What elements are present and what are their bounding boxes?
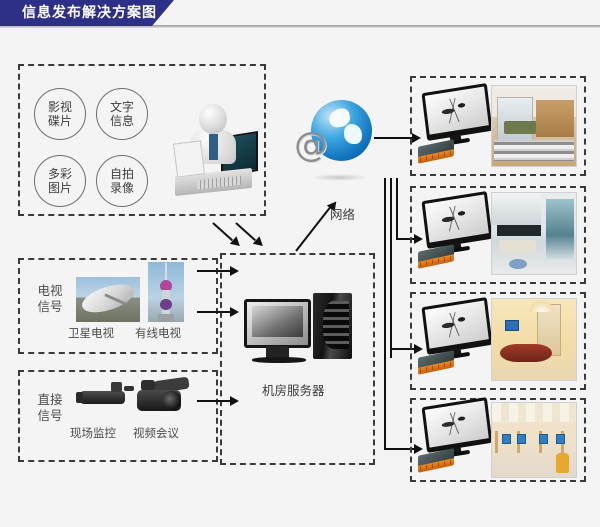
- arrow-head: [230, 307, 239, 317]
- server-vents-icon: [323, 301, 349, 349]
- arrow-server-to-network: [295, 206, 331, 251]
- direct-signal-label: 直接 信号: [30, 392, 70, 424]
- circle-line2: 录像: [110, 181, 134, 195]
- server-monitor-icon: [244, 299, 311, 347]
- network-label: 网络: [330, 207, 355, 223]
- satellite-tv-caption: 卫星电视: [68, 325, 114, 341]
- circle-line2: 碟片: [48, 114, 72, 128]
- yellow-dining-room-photo: [491, 298, 577, 381]
- arrow-content-to-server-1: [212, 222, 233, 241]
- server-label: 机房服务器: [262, 383, 325, 399]
- source-circle-self-record[interactable]: 自拍 录像: [96, 155, 148, 207]
- circle-line1: 自拍: [110, 167, 134, 181]
- tv-signal-label: 电视 信号: [30, 283, 70, 315]
- modern-living-room-photo: [491, 192, 577, 275]
- desktop-server-icon: [244, 293, 352, 371]
- person-laptop-icon: [168, 98, 260, 198]
- source-circle-video-disc[interactable]: 影视 碟片: [34, 88, 86, 140]
- bus-line-2: [390, 178, 392, 358]
- page-title: 信息发布解决方案图: [22, 3, 157, 23]
- arrow-tv-to-server: [197, 311, 231, 313]
- set-top-box-icon: [418, 248, 454, 270]
- person-head-icon: [199, 104, 227, 134]
- circle-line2: 信息: [110, 114, 134, 128]
- camcorder-icon: [135, 374, 197, 420]
- circle-line2: 图片: [48, 181, 72, 195]
- arrow-direct-to-server: [197, 400, 231, 402]
- arrow-to-server-top: [197, 270, 231, 272]
- circle-line1: 多彩: [48, 167, 72, 181]
- cable-tv-caption: 有线电视: [135, 325, 181, 341]
- set-top-box-icon: [418, 143, 454, 165]
- kitchen-dining-room-photo: [491, 85, 577, 167]
- tv-tower-icon: [148, 262, 184, 322]
- arrow-head: [230, 266, 239, 276]
- office-computer-room-photo: [491, 402, 577, 478]
- satellite-dish-icon: [76, 277, 140, 322]
- source-circle-text-info[interactable]: 文字 信息: [96, 88, 148, 140]
- bus-line-3: [396, 178, 398, 238]
- link-network-to-endpoint-1: [374, 137, 414, 139]
- flat-tv-icon: [424, 196, 490, 256]
- flat-tv-icon: [424, 88, 490, 148]
- set-top-box-icon: [418, 452, 454, 474]
- person-tie-icon: [209, 134, 217, 160]
- globe-at-icon: @: [294, 100, 372, 178]
- tv-signal-label-line1: 电视: [30, 283, 70, 299]
- circle-line1: 文字: [110, 100, 134, 114]
- set-top-box-icon: [418, 354, 454, 376]
- tv-signal-label-line2: 信号: [30, 299, 70, 315]
- security-camera-icon: [76, 378, 136, 418]
- circle-line1: 影视: [48, 100, 72, 114]
- direct-signal-label-line2: 信号: [30, 408, 70, 424]
- at-symbol-icon: @: [294, 127, 328, 161]
- diagram-canvas: 信息发布解决方案图 影视 碟片 文字 信息 多彩 图片 自拍 录像 电视 信号 …: [0, 0, 600, 527]
- direct-signal-label-line1: 直接: [30, 392, 70, 408]
- arrow-head: [230, 396, 239, 406]
- video-conference-caption: 视频会议: [133, 425, 179, 441]
- site-monitoring-caption: 现场监控: [70, 425, 116, 441]
- source-circle-color-image[interactable]: 多彩 图片: [34, 155, 86, 207]
- flat-tv-icon: [424, 302, 490, 362]
- bus-line-1: [384, 178, 386, 450]
- document-icon: [173, 140, 205, 177]
